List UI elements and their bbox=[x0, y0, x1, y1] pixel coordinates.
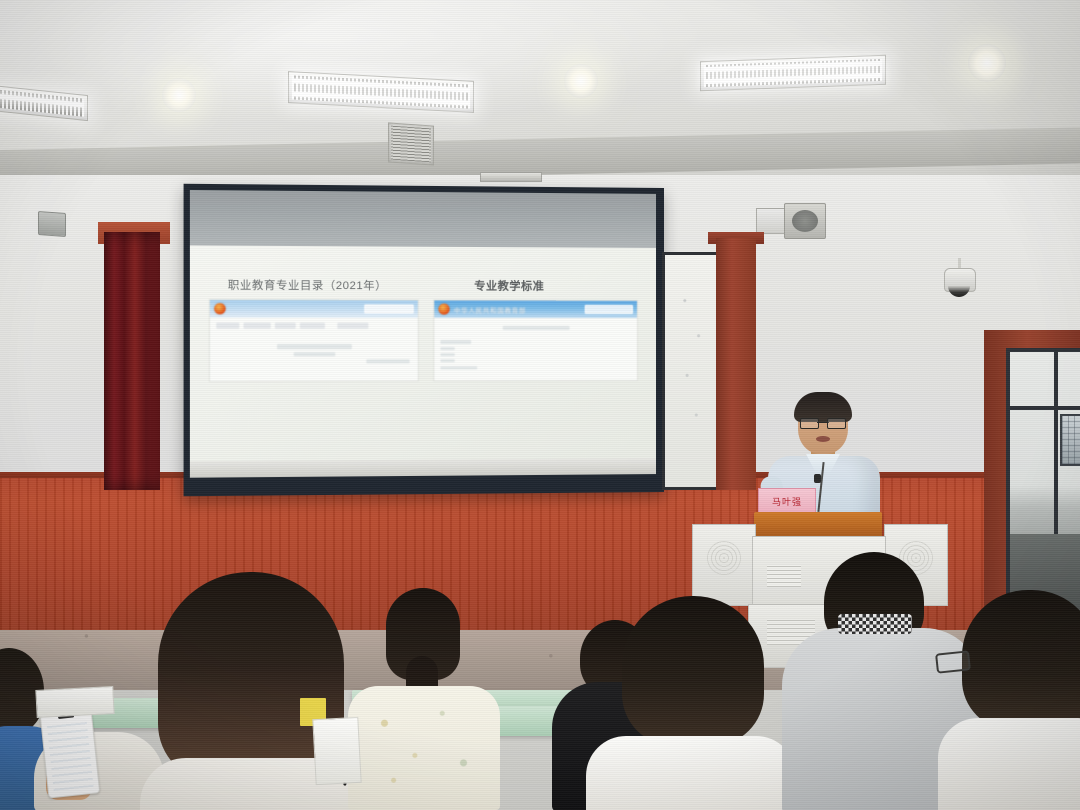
smartphone[interactable] bbox=[40, 710, 100, 799]
ghost-nav-item bbox=[275, 323, 296, 329]
wall-pillar bbox=[716, 238, 756, 490]
projection-screen: 职业教育专业目录（2021年） 专业教学标准 bbox=[184, 184, 664, 497]
slide-left-title: 职业教育专业目录（2021年） bbox=[228, 276, 431, 293]
ghost-text-line bbox=[440, 340, 471, 344]
student-white-shirt-front bbox=[586, 596, 796, 810]
panel-left-headline bbox=[277, 344, 352, 356]
projector-mount bbox=[480, 172, 542, 182]
ghost-text-line bbox=[440, 359, 454, 362]
student-head bbox=[962, 590, 1080, 730]
student-floral-blouse bbox=[348, 588, 500, 810]
podium-speaker-left bbox=[692, 524, 756, 606]
ghost-nav-item bbox=[300, 323, 325, 329]
slide-panel-right: 中华人民共和国教育部 bbox=[433, 299, 638, 381]
student-body bbox=[348, 686, 500, 810]
student-collar-checked bbox=[838, 614, 912, 634]
downlight-1 bbox=[162, 78, 196, 112]
student-glasses bbox=[938, 590, 1080, 810]
wall-speaker bbox=[38, 211, 66, 237]
name-card-text: 马叶强 bbox=[772, 495, 802, 508]
ghost-nav-item bbox=[244, 323, 271, 329]
clip-microphone-icon bbox=[814, 474, 821, 483]
presenter-glasses-icon bbox=[800, 418, 846, 427]
panel-right-banner-text: 中华人民共和国教育部 bbox=[454, 304, 526, 314]
ghost-text-line bbox=[440, 347, 454, 350]
national-emblem-icon bbox=[214, 303, 226, 314]
projected-slide: 职业教育专业目录（2021年） 专业教学标准 bbox=[190, 245, 656, 477]
ghost-text-line bbox=[277, 344, 352, 349]
ghost-text-line bbox=[366, 359, 409, 363]
slide-panel-left bbox=[209, 299, 419, 382]
national-emblem-icon bbox=[438, 304, 449, 315]
student-head bbox=[622, 596, 764, 746]
slide-right-title: 专业教学标准 bbox=[474, 277, 544, 293]
panel-left-body bbox=[210, 317, 418, 381]
screen-bottom-bar bbox=[190, 458, 656, 478]
ghost-text-line bbox=[294, 352, 336, 356]
screen-unlit-area bbox=[190, 190, 656, 250]
student-glasses-icon bbox=[935, 650, 971, 673]
notebook-center bbox=[312, 717, 361, 785]
panel-right-body bbox=[434, 318, 637, 381]
corridor-window bbox=[1060, 414, 1080, 466]
ghost-text-line bbox=[440, 353, 454, 356]
downlight-3 bbox=[968, 44, 1006, 82]
downlight-2 bbox=[564, 64, 598, 98]
panel-left-nav-row bbox=[216, 323, 411, 329]
name-card: 马叶强 bbox=[758, 488, 816, 514]
student-body bbox=[938, 718, 1080, 810]
ghost-nav-item bbox=[337, 323, 368, 329]
lecture-hall-photo: 职业教育专业目录（2021年） 专业教学标准 bbox=[0, 0, 1080, 810]
ceiling-air-vent bbox=[388, 122, 434, 165]
ghost-text-line bbox=[503, 326, 570, 330]
panel-right-banner: 中华人民共和国教育部 bbox=[434, 300, 637, 317]
wall-control-panel[interactable] bbox=[756, 208, 786, 234]
ghost-text-line bbox=[440, 366, 477, 369]
screen-surface: 职业教育专业目录（2021年） 专业教学标准 bbox=[190, 245, 656, 477]
wall-air-conditioner bbox=[784, 203, 826, 239]
classroom-door[interactable] bbox=[1006, 348, 1080, 630]
slide-title-row: 职业教育专业目录（2021年） 专业教学标准 bbox=[200, 254, 646, 300]
panel-right-headline bbox=[503, 326, 570, 333]
panel-left-search-input[interactable] bbox=[364, 304, 413, 313]
ghost-nav-item bbox=[216, 323, 239, 329]
notebook-left bbox=[35, 686, 114, 718]
stage-curtain bbox=[104, 232, 160, 490]
panel-right-search-input[interactable] bbox=[585, 305, 633, 314]
glasses-lens-left bbox=[800, 418, 819, 429]
floral-pattern bbox=[348, 686, 500, 810]
glasses-lens-right bbox=[827, 418, 846, 429]
door-mullion-horizontal bbox=[1010, 406, 1080, 410]
speaker-grille-icon bbox=[707, 541, 741, 575]
podium-wood-top bbox=[754, 512, 882, 538]
student-body bbox=[586, 736, 796, 810]
presenter-mouth bbox=[816, 436, 830, 442]
panel-left-banner bbox=[210, 300, 418, 318]
slide-screenshot-panels: 中华人民共和国教育部 bbox=[200, 299, 646, 382]
